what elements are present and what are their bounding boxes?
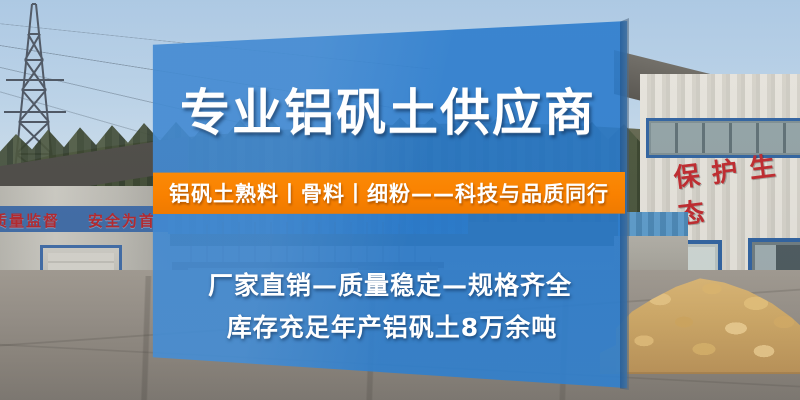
headline-title: 专业铝矾土供应商 <box>150 84 626 142</box>
subline-two: 库存充足年产铝矾土8万余吨 <box>154 308 630 344</box>
subline-one: 厂家直销—质量稳定—规格齐全 <box>152 266 628 302</box>
promo-banner: 质量监督 安全为首 保护生态 <box>0 0 800 400</box>
orange-ribbon-text: 铝矾土熟料丨骨料丨细粉——科技与品质同行 <box>153 172 625 214</box>
